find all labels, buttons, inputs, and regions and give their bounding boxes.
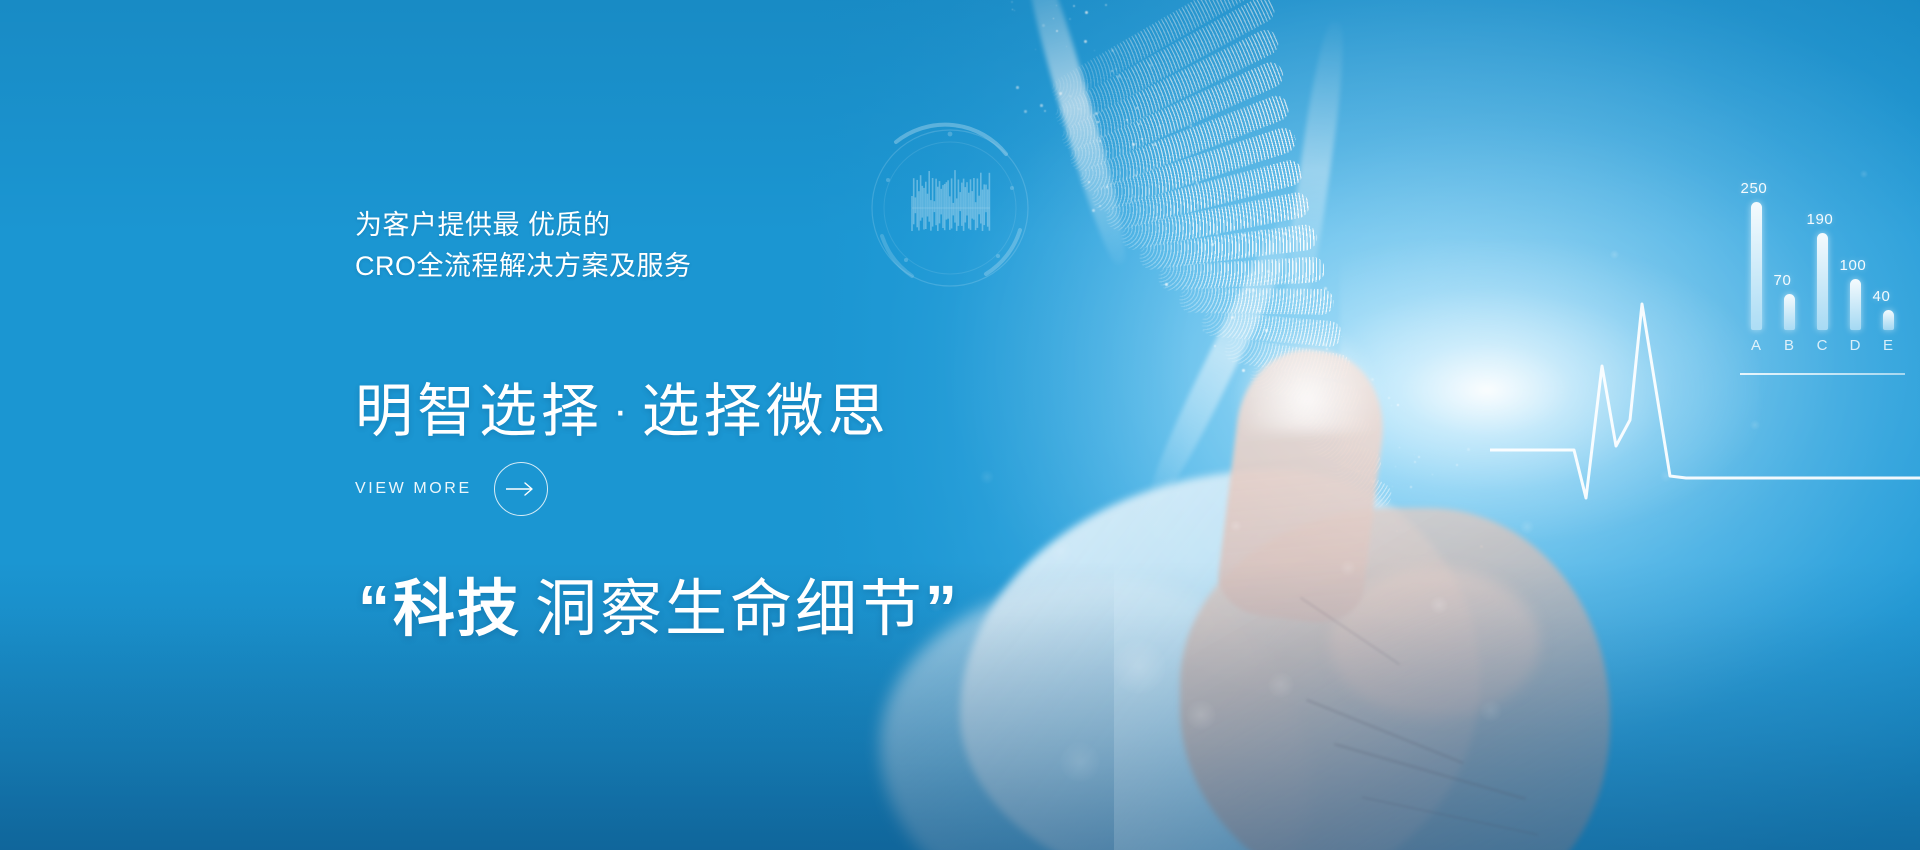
hero-quote: “科技洞察生命细节” [358,558,960,648]
hero-headline-left: 明智选择 [355,379,603,444]
arrow-right-icon[interactable] [494,462,548,516]
hero-kicker-line-1: 为客户提供最 优质的 [355,205,692,246]
hero-kicker: 为客户提供最 优质的 CRO全流程解决方案及服务 [355,205,692,287]
view-more-label: VIEW MORE [355,480,472,498]
hero-kicker-line-2: CRO全流程解决方案及服务 [355,246,692,287]
hero-headline-right: 选择微思 [642,379,890,444]
quote-open-mark: “ [358,572,393,644]
quote-emphasis: 科技 [393,575,521,644]
hero-content: 为客户提供最 优质的 CRO全流程解决方案及服务 明智选择·选择微思 VIEW … [355,0,1175,850]
quote-close-mark: ” [925,572,960,644]
quote-rest: 洞察生命细节 [521,575,925,644]
view-more-button[interactable]: VIEW MORE [355,462,548,516]
hero-headline: 明智选择·选择微思 [355,364,890,448]
hero-headline-separator: · [603,386,642,435]
hero-banner: 2507019010040 ABCDE 为客户提供最 优质的 CRO全流程解决方… [0,0,1920,850]
